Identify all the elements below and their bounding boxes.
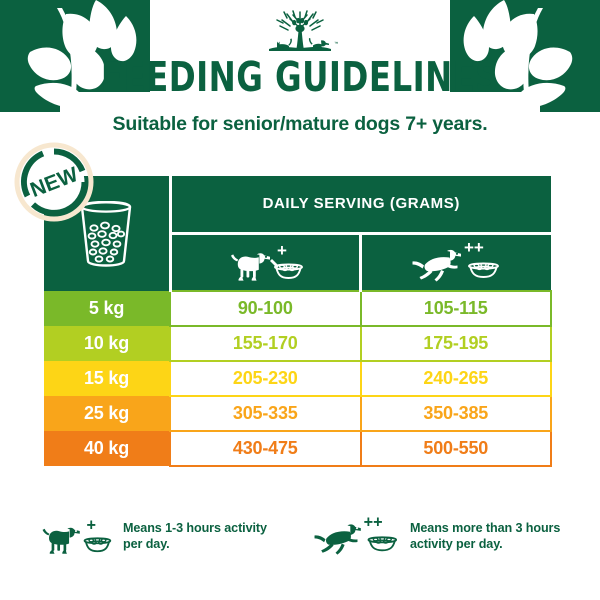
table-header-row: DAILY SERVING (GRAMS) <box>44 176 551 233</box>
activity-marker-double-plus: ++ <box>464 240 484 257</box>
high-activity-value: 240-265 <box>361 361 552 396</box>
svg-text:™: ™ <box>334 41 339 46</box>
low-activity-value: 205-230 <box>170 361 361 396</box>
weight-cell: 40 kg <box>44 431 170 466</box>
page-title: FEEDING GUIDELINES <box>36 57 564 98</box>
low-activity-value: 305-335 <box>170 396 361 431</box>
high-activity-value: 175-195 <box>361 326 552 361</box>
daily-serving-header: DAILY SERVING (GRAMS) <box>170 176 551 233</box>
weight-cell: 10 kg <box>44 326 170 361</box>
standing-dog-with-bowl-icon: + <box>36 515 114 557</box>
high-activity-value: 500-550 <box>361 431 552 466</box>
low-activity-value: 90-100 <box>170 291 361 326</box>
high-activity-value: 105-115 <box>361 291 552 326</box>
legend-text: Means 1-3 hours activity per day. <box>123 520 287 552</box>
low-activity-value: 430-475 <box>170 431 361 466</box>
legend: + Means 1-3 hours activity per day. <box>0 515 600 557</box>
tree-with-paw-cat-dog-logo: ™ <box>257 8 343 58</box>
legend-item-high-activity: ++ Means more than 3 hours activity per … <box>313 515 564 557</box>
high-activity-column-header: ++ <box>361 233 552 291</box>
legend-item-low-activity: + Means 1-3 hours activity per day. <box>36 515 287 557</box>
feeding-table: DAILY SERVING (GRAMS) <box>44 176 552 467</box>
table-row: 10 kg 155-170 175-195 <box>44 326 551 361</box>
low-activity-column-header: + <box>170 233 361 291</box>
activity-marker-plus: + <box>277 241 287 260</box>
high-activity-value: 350-385 <box>361 396 552 431</box>
weight-cell: 15 kg <box>44 361 170 396</box>
new-badge: NEW <box>14 142 94 222</box>
brand-logo: ™ <box>0 8 600 58</box>
weight-cell: 5 kg <box>44 291 170 326</box>
low-activity-value: 155-170 <box>170 326 361 361</box>
table-row: 5 kg 90-100 105-115 <box>44 291 551 326</box>
feeding-guidelines-infographic: ™ FEEDING GUIDELINES Suitable for senior… <box>0 0 600 600</box>
jumping-dog-with-bowl-icon: ++ <box>313 515 401 557</box>
legend-text: Means more than 3 hours activity per day… <box>410 520 564 552</box>
table-row: 15 kg 205-230 240-265 <box>44 361 551 396</box>
standing-dog-with-bowl-icon: + <box>225 240 305 284</box>
table-row: 25 kg 305-335 350-385 <box>44 396 551 431</box>
weight-cell: 25 kg <box>44 396 170 431</box>
page-subtitle: Suitable for senior/mature dogs 7+ years… <box>0 113 600 136</box>
activity-marker-double-plus: ++ <box>364 515 383 531</box>
table-row: 40 kg 430-475 500-550 <box>44 431 551 466</box>
jumping-dog-with-bowl-icon: ++ <box>411 240 503 284</box>
activity-marker-plus: + <box>86 516 95 534</box>
